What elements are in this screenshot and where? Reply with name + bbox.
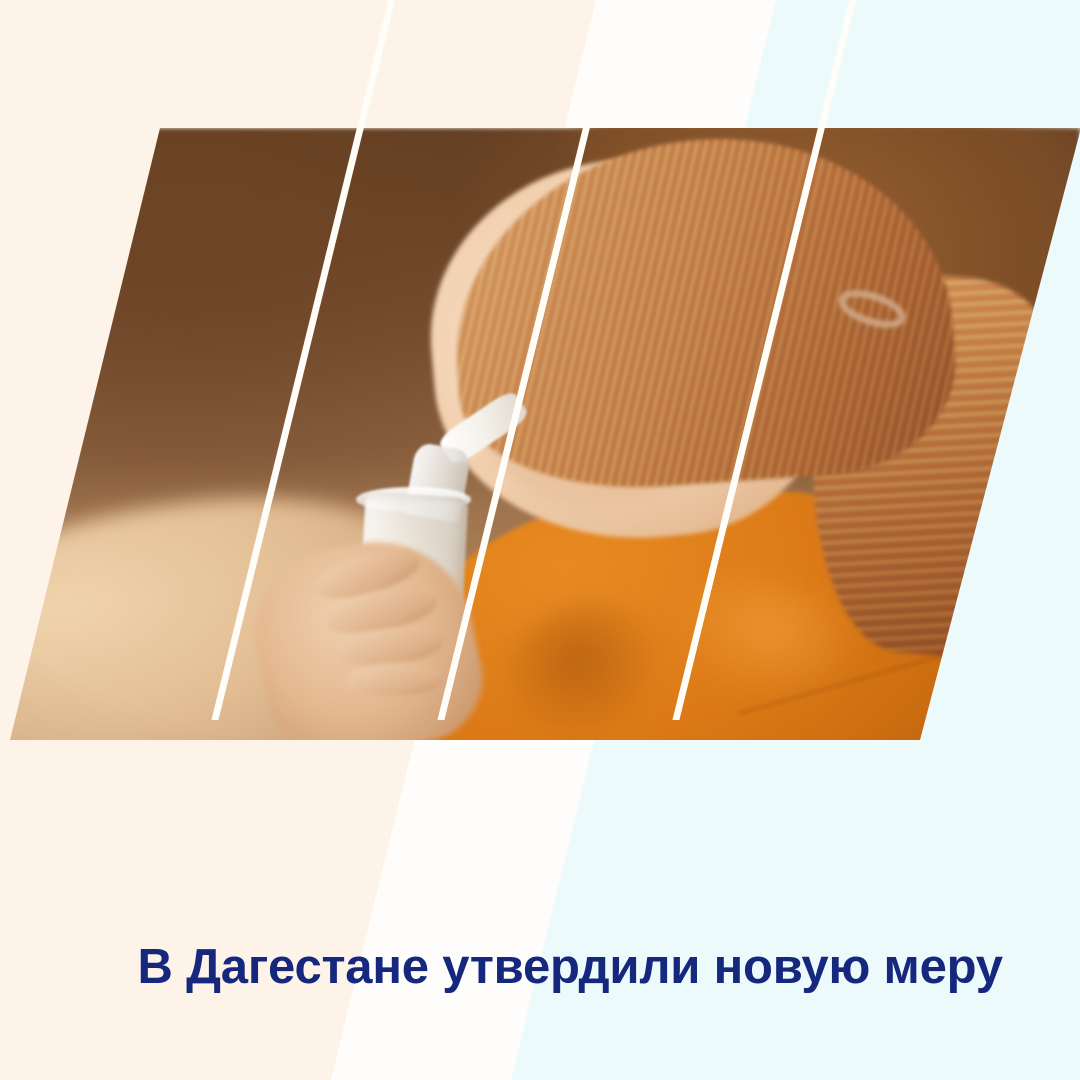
news-card: В Дагестане утвердили новую меру соцподд… [0,0,1080,1080]
headline-line-2: соцподдержки для детей с [57,1061,1007,1080]
hero-photo-image [0,128,1080,740]
headline: В Дагестане утвердили новую меру соцподд… [57,873,1007,1080]
headline-segment: В Дагестане утвердили новую меру [137,940,1002,994]
hero-photo [0,128,1080,740]
photo-scene [0,128,1080,740]
headline-line-1: В Дагестане утвердили новую меру [57,873,1007,1061]
